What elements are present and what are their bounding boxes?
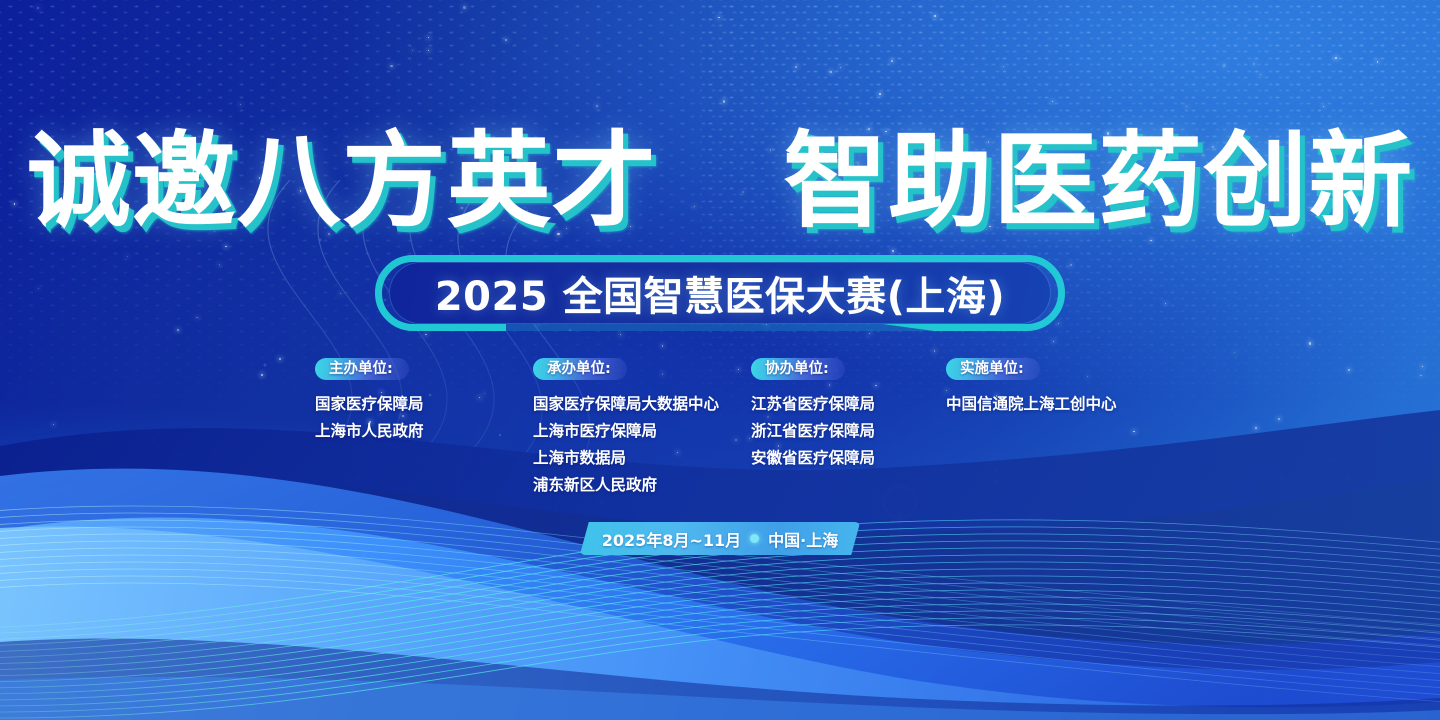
organizer-column-implementer: 实施单位: 中国信通院上海工创中心	[970, 358, 1200, 418]
date-place-pill: 2025年8月~11月 中国·上海	[580, 522, 860, 555]
list-item: 安徽省医疗保障局	[751, 445, 970, 472]
event-poster: 诚邀八方英才 智助医药创新 2025 全国智慧医保大赛(上海) 主办单位: 国家…	[0, 0, 1440, 720]
organizer-items-organizer: 国家医疗保障局大数据中心 上海市医疗保障局 上海市数据局 浦东新区人民政府	[533, 391, 755, 499]
list-item: 江苏省医疗保障局	[751, 391, 970, 418]
list-item: 国家医疗保障局大数据中心	[533, 391, 755, 418]
organizer-items-coorganizer: 江苏省医疗保障局 浙江省医疗保障局 安徽省医疗保障局	[751, 391, 970, 472]
list-item: 中国信通院上海工创中心	[946, 391, 1200, 418]
subtitle-pill: 2025 全国智慧医保大赛(上海)	[389, 262, 1051, 324]
list-item: 浙江省医疗保障局	[751, 418, 970, 445]
organizers-section: 主办单位: 国家医疗保障局 上海市人民政府 承办单位: 国家医疗保障局大数据中心…	[300, 358, 1200, 499]
organizer-label-host: 主办单位:	[315, 358, 409, 380]
list-item: 上海市人民政府	[315, 418, 535, 445]
organizer-label-implementer: 实施单位:	[946, 358, 1040, 380]
list-item: 浦东新区人民政府	[533, 472, 755, 499]
subtitle-container: 2025 全国智慧医保大赛(上海)	[0, 262, 1440, 324]
title-part-1: 诚邀八方英才	[27, 120, 657, 242]
date-place-container: 2025年8月~11月 中国·上海	[0, 522, 1440, 555]
organizer-column-host: 主办单位: 国家医疗保障局 上海市人民政府	[300, 358, 535, 445]
list-item: 国家医疗保障局	[315, 391, 535, 418]
subtitle-text: 2025 全国智慧医保大赛(上海)	[435, 264, 1005, 322]
organizer-column-organizer: 承办单位: 国家医疗保障局大数据中心 上海市医疗保障局 上海市数据局 浦东新区人…	[535, 358, 755, 499]
date-text: 2025年8月~11月	[602, 527, 741, 551]
organizer-items-host: 国家医疗保障局 上海市人民政府	[315, 391, 535, 445]
list-item: 上海市医疗保障局	[533, 418, 755, 445]
organizer-column-coorganizer: 协办单位: 江苏省医疗保障局 浙江省医疗保障局 安徽省医疗保障局	[755, 358, 970, 472]
organizer-items-implementer: 中国信通院上海工创中心	[946, 391, 1200, 418]
organizer-label-coorganizer: 协办单位:	[751, 358, 845, 380]
list-item: 上海市数据局	[533, 445, 755, 472]
place-text: 中国·上海	[768, 527, 838, 551]
organizer-label-organizer: 承办单位:	[533, 358, 627, 380]
dot-separator-icon	[750, 534, 759, 543]
page-title: 诚邀八方英才 智助医药创新	[0, 128, 1440, 234]
title-part-2: 智助医药创新	[783, 120, 1413, 242]
